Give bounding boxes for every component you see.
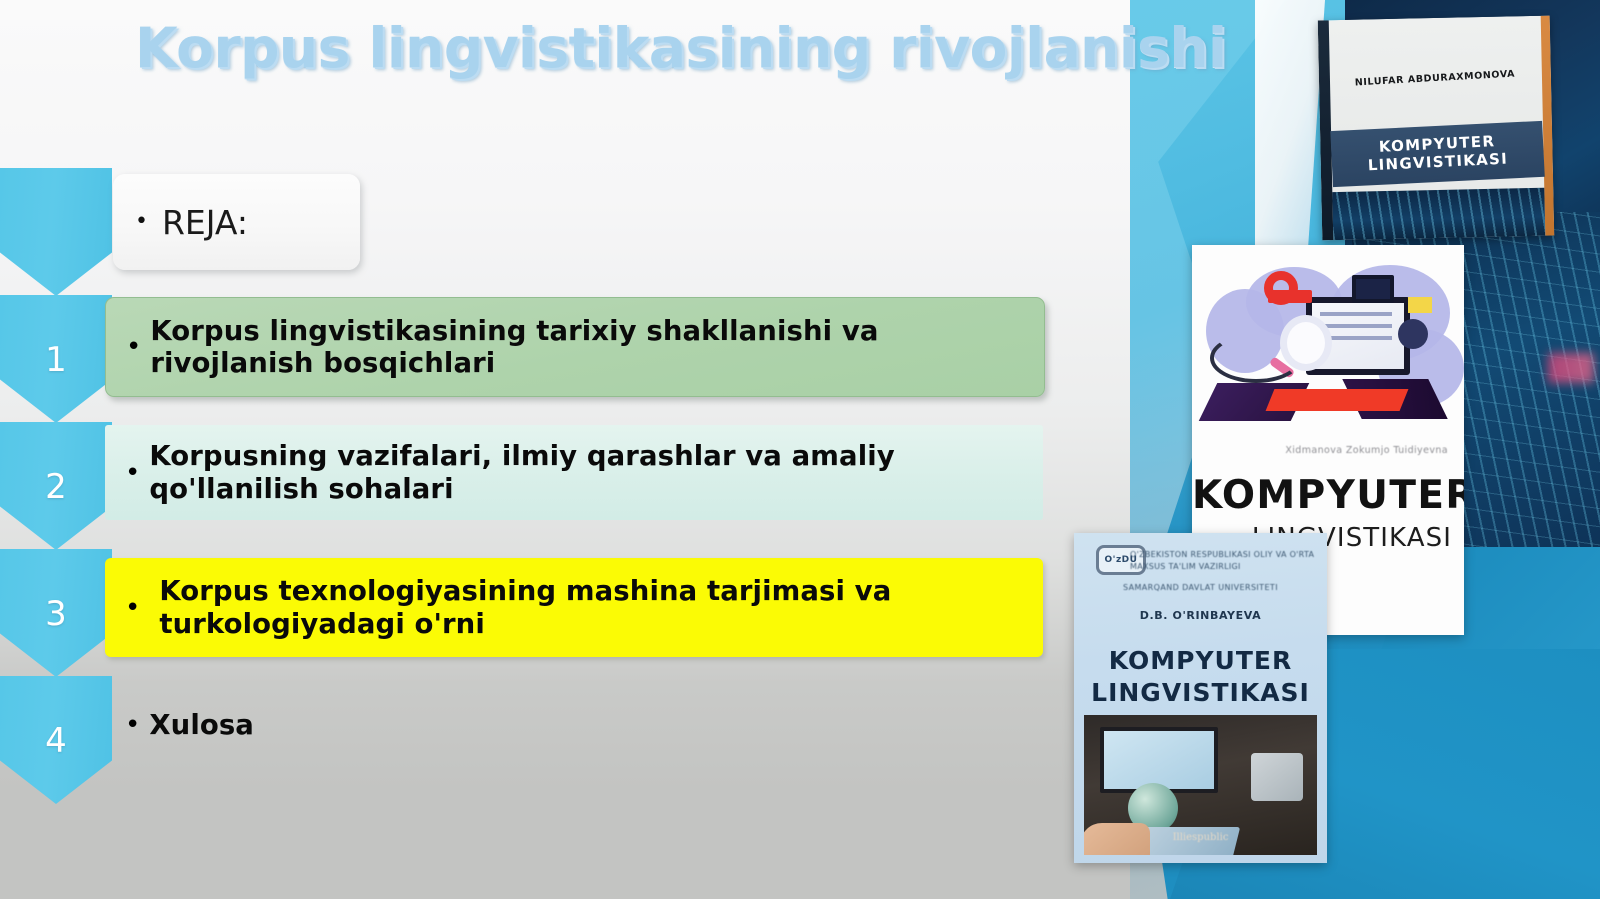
presentation-slide: Korpus lingvistikasining rivojlanishi 1 …	[0, 0, 1600, 899]
book2-illustration	[1202, 259, 1458, 441]
bullet-icon: •	[125, 595, 140, 621]
agenda-header-card: • REJA:	[113, 174, 360, 270]
device-shape	[1251, 753, 1303, 801]
chevron-number: 4	[45, 724, 67, 804]
book3-organization: O'ZBEKISTON RESPUBLIKASI OLIY VA O'RTA M…	[1130, 549, 1319, 573]
agenda-item-2-text: Korpusning vazifalari, ilmiy qarashlar v…	[149, 440, 1023, 505]
agenda-item-3-text: Korpus texnologiyasining mashina tarjima…	[149, 575, 1023, 640]
book3-author: D.B. O'RINBAYEVA	[1074, 609, 1327, 622]
agenda-header-label: REJA:	[162, 203, 248, 242]
book2-authors: Xidmanova Zokumjo Tuidiyevna	[1192, 445, 1448, 456]
book3-university: SAMARQAND DAVLAT UNIVERSITETI	[1074, 583, 1327, 592]
yellow-accent-shape	[1408, 297, 1432, 313]
bullet-icon: •	[126, 334, 141, 360]
chevron-down-icon	[0, 168, 112, 296]
book-cover-image-3: O'zDU O'ZBEKISTON RESPUBLIKASI OLIY VA O…	[1074, 533, 1327, 863]
book1-title-band: KOMPYUTER LINGVISTIKASI	[1330, 121, 1544, 187]
chevron-number: 1	[45, 343, 67, 423]
cable-shape	[1210, 333, 1302, 383]
chevron-number: 2	[45, 470, 67, 550]
chevron-step-2[interactable]: 2	[0, 422, 112, 550]
book3-photo-graphic: Illiespublic	[1084, 715, 1317, 855]
book2-title-line1: KOMPYUTER	[1192, 473, 1452, 518]
chevron-number: 3	[45, 597, 67, 677]
gear-icon	[1264, 271, 1298, 305]
agenda-item-1[interactable]: • Korpus lingvistikasining tarixiy shakl…	[105, 297, 1045, 397]
bullet-icon: •	[125, 712, 140, 738]
agenda-item-4-text: Xulosa	[149, 709, 254, 741]
book1-footer-graphic	[1332, 188, 1545, 240]
bullet-icon: •	[135, 211, 148, 233]
chevron-step-1[interactable]: 1	[0, 295, 112, 423]
small-monitor-icon	[1352, 275, 1394, 303]
book3-title: KOMPYUTER LINGVISTIKASI	[1074, 645, 1327, 708]
page-title: Korpus lingvistikasining rivojlanishi	[135, 16, 1226, 80]
red-accent-shape	[1266, 389, 1409, 411]
agenda-item-4[interactable]: • Xulosa	[105, 690, 1043, 760]
dot-shape	[1398, 319, 1428, 349]
bullet-icon: •	[125, 460, 140, 486]
chevron-step-0	[0, 168, 112, 296]
chevron-rail: 1 2 3 4	[0, 168, 112, 803]
agenda-item-3[interactable]: • Korpus texnologiyasining mashina tarji…	[105, 558, 1043, 657]
chevron-step-3[interactable]: 3	[0, 549, 112, 677]
book3-title-line1: KOMPYUTER	[1109, 646, 1293, 675]
book3-publisher: Illiespublic	[1084, 832, 1317, 843]
book-cover-image-1: NILUFAR ABDURAXMONOVA KOMPYUTER LINGVIST…	[1318, 16, 1555, 241]
chevron-step-4[interactable]: 4	[0, 676, 112, 804]
agenda-item-2[interactable]: • Korpusning vazifalari, ilmiy qarashlar…	[105, 425, 1043, 520]
agenda-item-1-text: Korpus lingvistikasining tarixiy shaklla…	[150, 315, 1024, 380]
book3-title-line2: LINGVISTIKASI	[1091, 678, 1310, 707]
